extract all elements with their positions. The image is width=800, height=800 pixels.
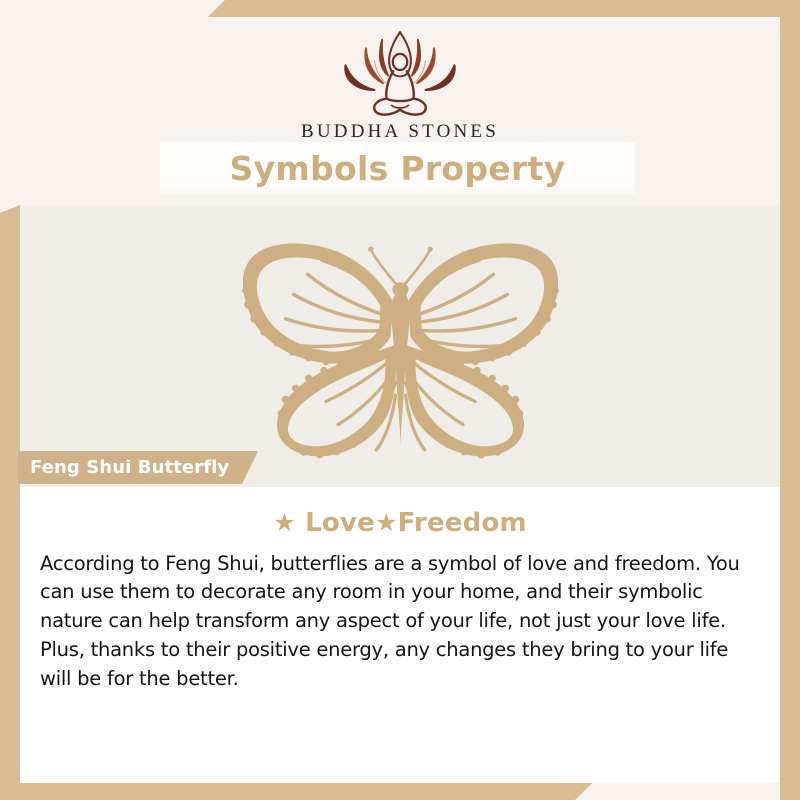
lotus-meditation-figure-icon xyxy=(314,27,486,119)
subtitle-love-text: Love xyxy=(296,508,375,538)
frame-right-bar xyxy=(780,0,800,800)
frame-left-bar xyxy=(0,205,20,800)
section-subtitle: ★ Love★Freedom xyxy=(26,509,774,538)
frame-bottom-bar xyxy=(0,783,592,800)
subtitle-freedom-text: Freedom xyxy=(398,508,527,538)
title-banner: Symbols Property xyxy=(160,142,635,194)
section-body-text: According to Feng Shui, butterflies are … xyxy=(26,550,774,694)
butterfly-icon xyxy=(228,232,573,464)
poster-root: BUDDHA STONES Symbols Property xyxy=(0,0,800,800)
star-icon-leading: ★ xyxy=(273,508,296,537)
page-title: Symbols Property xyxy=(230,149,566,188)
frame-top-bar xyxy=(208,0,800,17)
star-icon-middle: ★ xyxy=(375,508,398,537)
section-tag-label: Feng Shui Butterfly xyxy=(30,457,229,478)
illustration-band xyxy=(20,205,780,487)
content-card: ★ Love★Freedom According to Feng Shui, b… xyxy=(20,487,780,783)
section-tag-feng-shui-butterfly: Feng Shui Butterfly xyxy=(18,451,258,484)
brand-name: BUDDHA STONES xyxy=(301,121,499,143)
